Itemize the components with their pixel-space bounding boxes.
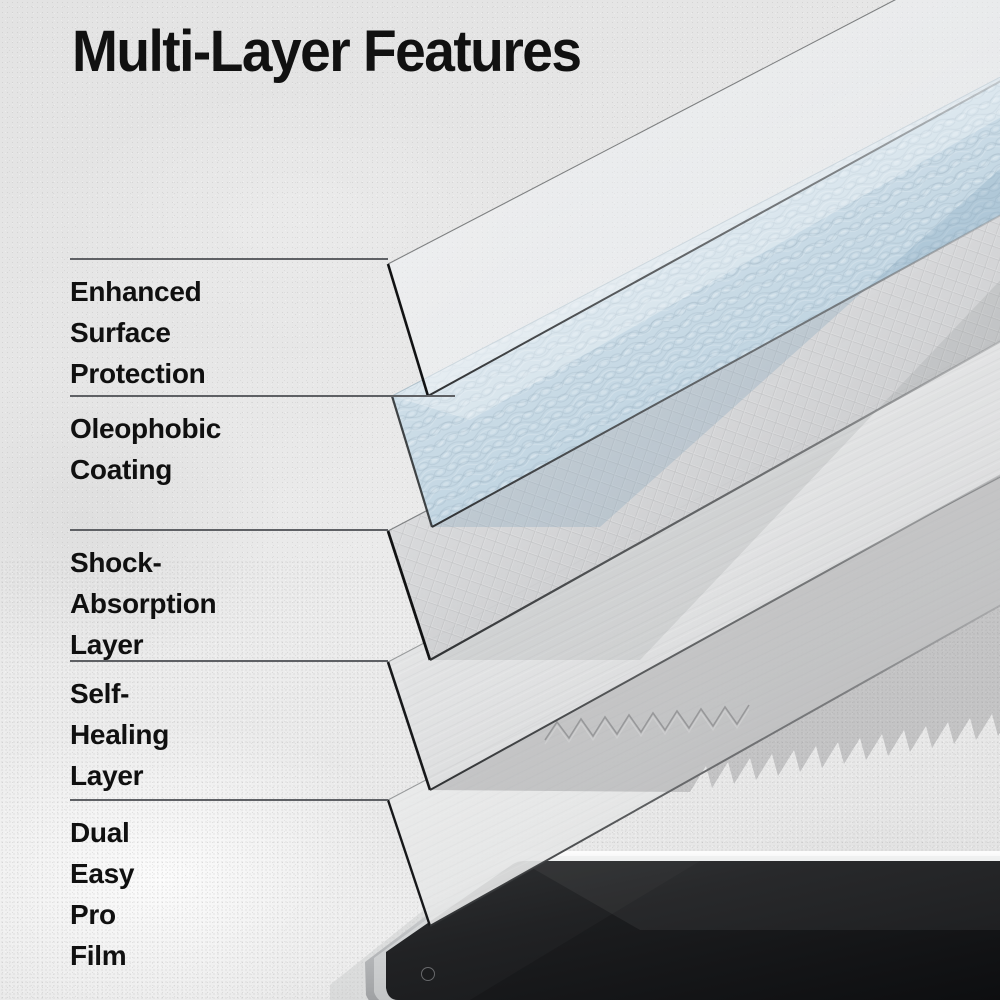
infographic-canvas: Multi-Layer Features Enhanced Surface Pr… <box>0 0 1000 1000</box>
callout-label-oleophobic-coating: Oleophobic Coating <box>70 409 221 491</box>
callout-label-dual-easy-pro-film: Dual Easy Pro Film <box>70 813 134 977</box>
callout-label-self-healing-layer: Self-Healing Layer <box>70 674 169 797</box>
callout-label-enhanced-surface-protection: Enhanced Surface Protection <box>70 272 205 395</box>
page-title: Multi-Layer Features <box>72 18 581 85</box>
callout-label-shock-absorption-layer: Shock-Absorption Layer <box>70 543 216 666</box>
